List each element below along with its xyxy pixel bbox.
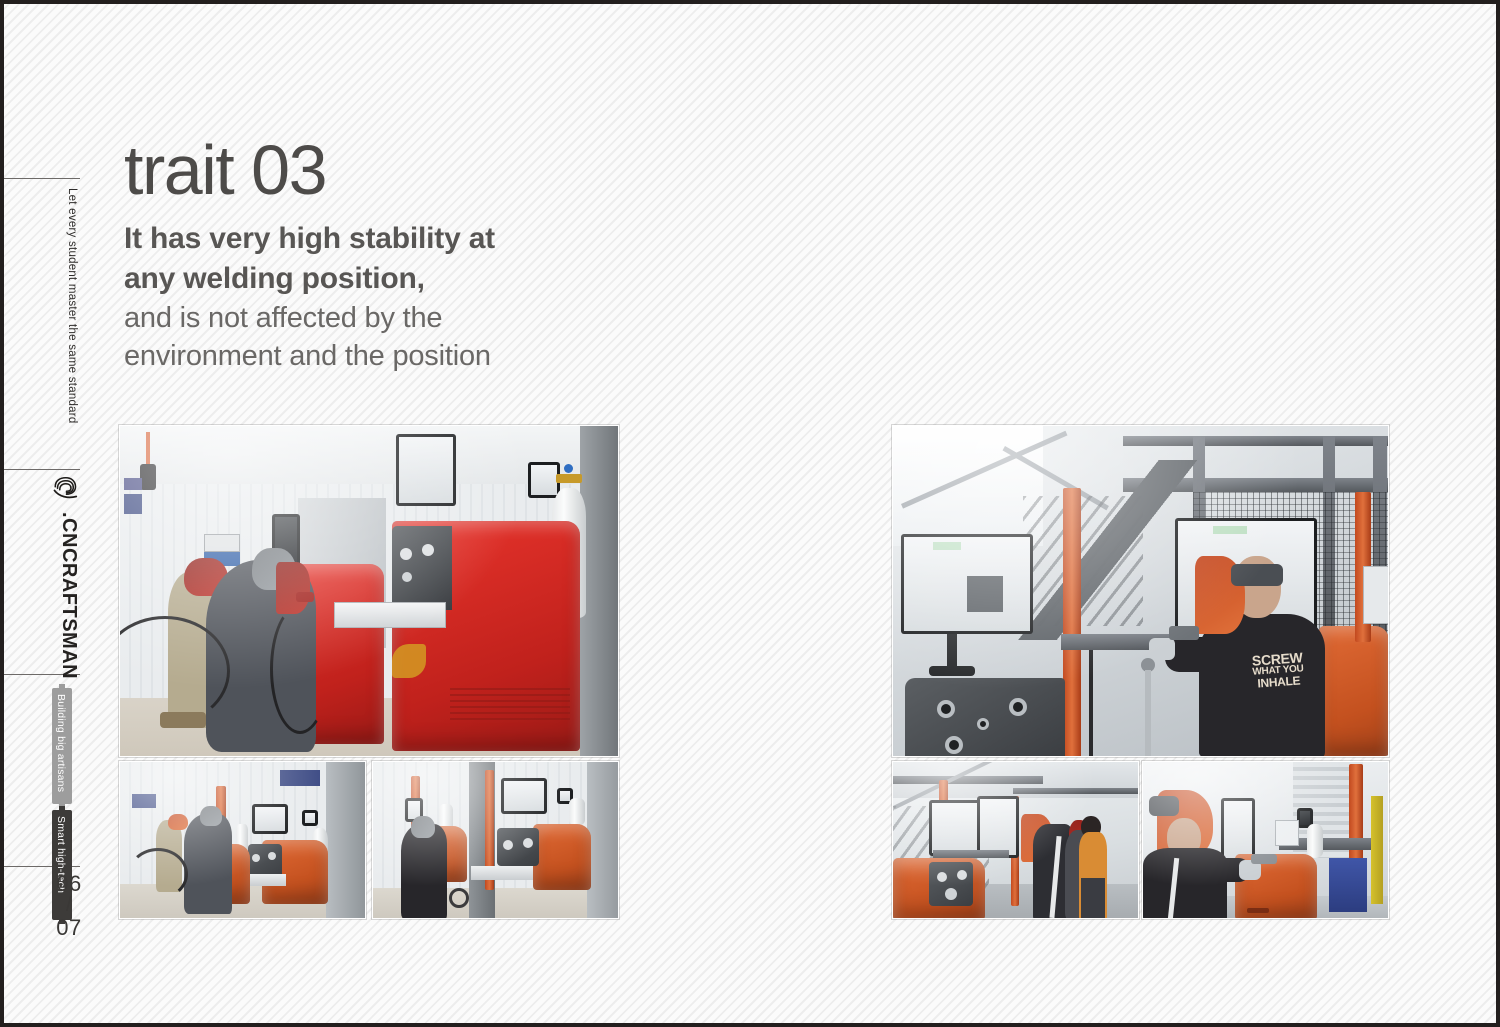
monitor-screen bbox=[399, 437, 453, 503]
machine-knob bbox=[268, 852, 276, 860]
gas-cylinder bbox=[569, 798, 585, 826]
monitor-screen-label bbox=[933, 542, 961, 550]
monitor-screen bbox=[980, 799, 1016, 855]
photo-scene bbox=[893, 762, 1138, 918]
console-knob bbox=[945, 736, 963, 754]
welding-machine-rear bbox=[1319, 626, 1389, 756]
support-post bbox=[1063, 488, 1081, 757]
subhead-bold: It has very high stability at any weldin… bbox=[124, 219, 744, 299]
machine-knob bbox=[523, 838, 533, 848]
welding-torch bbox=[1169, 626, 1199, 640]
hanging-torch bbox=[146, 432, 150, 466]
spine-tagline: Let every student master the same standa… bbox=[66, 188, 78, 424]
wall-cabinet bbox=[1363, 566, 1389, 624]
page-number-current: 06 bbox=[56, 871, 81, 896]
monitor-screen bbox=[531, 465, 557, 495]
machine-knob bbox=[252, 854, 260, 862]
badge-building-big-artisans: Building big artisans bbox=[52, 688, 72, 804]
monitor-screen bbox=[1300, 811, 1310, 825]
photo-main-right: SCREW WHAT YOU INHALE bbox=[892, 425, 1389, 757]
subhead-bold-line-2: any welding position, bbox=[124, 259, 744, 299]
badge-nub-top bbox=[59, 806, 65, 810]
monitor-right bbox=[977, 796, 1019, 858]
photo-right-lower-1 bbox=[892, 761, 1139, 919]
machine-knob bbox=[945, 888, 957, 900]
console-knob bbox=[977, 718, 989, 730]
welding-helmet bbox=[168, 814, 188, 830]
cart-wheel bbox=[449, 888, 469, 908]
photo-scene bbox=[1143, 762, 1388, 918]
brand-name: .CNCRAFTSMAN bbox=[57, 512, 80, 679]
welding-torch bbox=[1251, 854, 1277, 864]
monitor-screen bbox=[305, 813, 315, 823]
photo-right-lower-2 bbox=[1142, 761, 1389, 919]
subhead-light-line-1: and is not affected by the bbox=[124, 299, 744, 337]
booth-panel-right bbox=[587, 762, 619, 918]
sidebar-spine: Let every student master the same standa… bbox=[4, 4, 108, 1023]
cylinder-valve bbox=[556, 474, 582, 483]
floor-cable bbox=[128, 848, 188, 900]
monitor-screen bbox=[255, 807, 285, 831]
photo-scene bbox=[373, 762, 618, 918]
wall-sign bbox=[124, 494, 142, 514]
monitor bbox=[501, 778, 547, 814]
machine-knob bbox=[402, 572, 412, 582]
console-knob bbox=[937, 700, 955, 718]
monitor-right-label bbox=[1213, 526, 1247, 534]
student-right-legs bbox=[1081, 878, 1105, 919]
jacket-print: SCREW WHAT YOU INHALE bbox=[1238, 649, 1318, 691]
page-number: 06 / 07 bbox=[46, 872, 92, 939]
page-number-total: 07 bbox=[56, 915, 81, 940]
trainee-in-gear bbox=[401, 824, 447, 919]
welding-glove bbox=[1149, 638, 1175, 660]
brochure-page: Let every student master the same standa… bbox=[4, 4, 1496, 1023]
spine-divider-1 bbox=[4, 178, 80, 179]
badge-nub-top bbox=[59, 684, 65, 688]
page-title: trait 03 bbox=[124, 136, 744, 205]
machine-logo bbox=[392, 644, 426, 678]
monitor-base bbox=[929, 666, 975, 676]
ceiling-duct-2 bbox=[1013, 788, 1139, 794]
photo-left-lower-2 bbox=[372, 761, 619, 919]
machine-tray bbox=[334, 602, 446, 628]
helmet-strap bbox=[1149, 796, 1179, 816]
monitor-screen bbox=[560, 791, 570, 801]
photo-main-left bbox=[119, 425, 619, 757]
wall-frames bbox=[1275, 820, 1299, 846]
subhead-bold-line-1: It has very high stability at bbox=[124, 219, 744, 259]
monitor bbox=[252, 804, 288, 834]
machine-knob bbox=[422, 544, 434, 556]
spine-divider-2 bbox=[4, 469, 80, 470]
yellow-post bbox=[1371, 796, 1383, 904]
machine-vents bbox=[450, 688, 570, 722]
monitor-screen bbox=[932, 803, 978, 853]
pipe-stand bbox=[1145, 670, 1151, 757]
wall-sign bbox=[280, 770, 320, 786]
hose-cable bbox=[1089, 650, 1093, 757]
control-box bbox=[204, 534, 240, 552]
headline-block: trait 03 It has very high stability at a… bbox=[124, 136, 744, 376]
welding-machine bbox=[533, 824, 591, 890]
blue-cabinet bbox=[1329, 858, 1367, 912]
machine-knob bbox=[503, 840, 513, 850]
ceiling-duct bbox=[893, 776, 1043, 784]
photo-left-lower-1 bbox=[119, 761, 366, 919]
welding-helmet-grey bbox=[411, 816, 435, 838]
hanging-torch-head bbox=[140, 464, 156, 490]
cylinder-knob bbox=[564, 464, 573, 473]
monitor-screen bbox=[504, 781, 544, 811]
gas-cylinder bbox=[1307, 824, 1323, 858]
monitor-small bbox=[302, 810, 318, 826]
steel-beam-horizontal-2 bbox=[1123, 436, 1389, 446]
trainee-foreground bbox=[184, 814, 232, 914]
badge-label: Building big artisans bbox=[55, 694, 67, 792]
booth-door-right bbox=[326, 762, 366, 918]
photo-scene bbox=[120, 426, 618, 756]
subhead-light: and is not affected by the environment a… bbox=[124, 299, 744, 376]
subhead-light-line-2: environment and the position bbox=[124, 337, 744, 375]
helmet-strap bbox=[1231, 564, 1283, 586]
photo-scene: SCREW WHAT YOU INHALE bbox=[893, 426, 1388, 756]
machine-knob bbox=[937, 872, 947, 882]
swirl-logo-icon bbox=[50, 474, 80, 504]
stair-treads bbox=[1023, 496, 1143, 626]
welding-torch bbox=[296, 592, 314, 602]
wall-sign bbox=[124, 478, 142, 490]
wall-sign bbox=[132, 794, 156, 808]
monitor-large bbox=[396, 434, 456, 506]
machine-tray bbox=[471, 866, 533, 880]
console-knob bbox=[1009, 698, 1027, 716]
machine-knob bbox=[957, 870, 967, 880]
machine-handle bbox=[1247, 908, 1269, 913]
torch-cable bbox=[270, 604, 330, 734]
machine-knob bbox=[400, 548, 412, 560]
photo-scene bbox=[120, 762, 365, 918]
crossbar bbox=[933, 850, 1009, 858]
monitor-left bbox=[929, 800, 981, 856]
monitor-screen-part bbox=[967, 576, 1003, 612]
welding-helmet-grey bbox=[200, 806, 222, 826]
page-number-separator: / bbox=[46, 895, 92, 916]
machine-control-face bbox=[392, 526, 452, 610]
